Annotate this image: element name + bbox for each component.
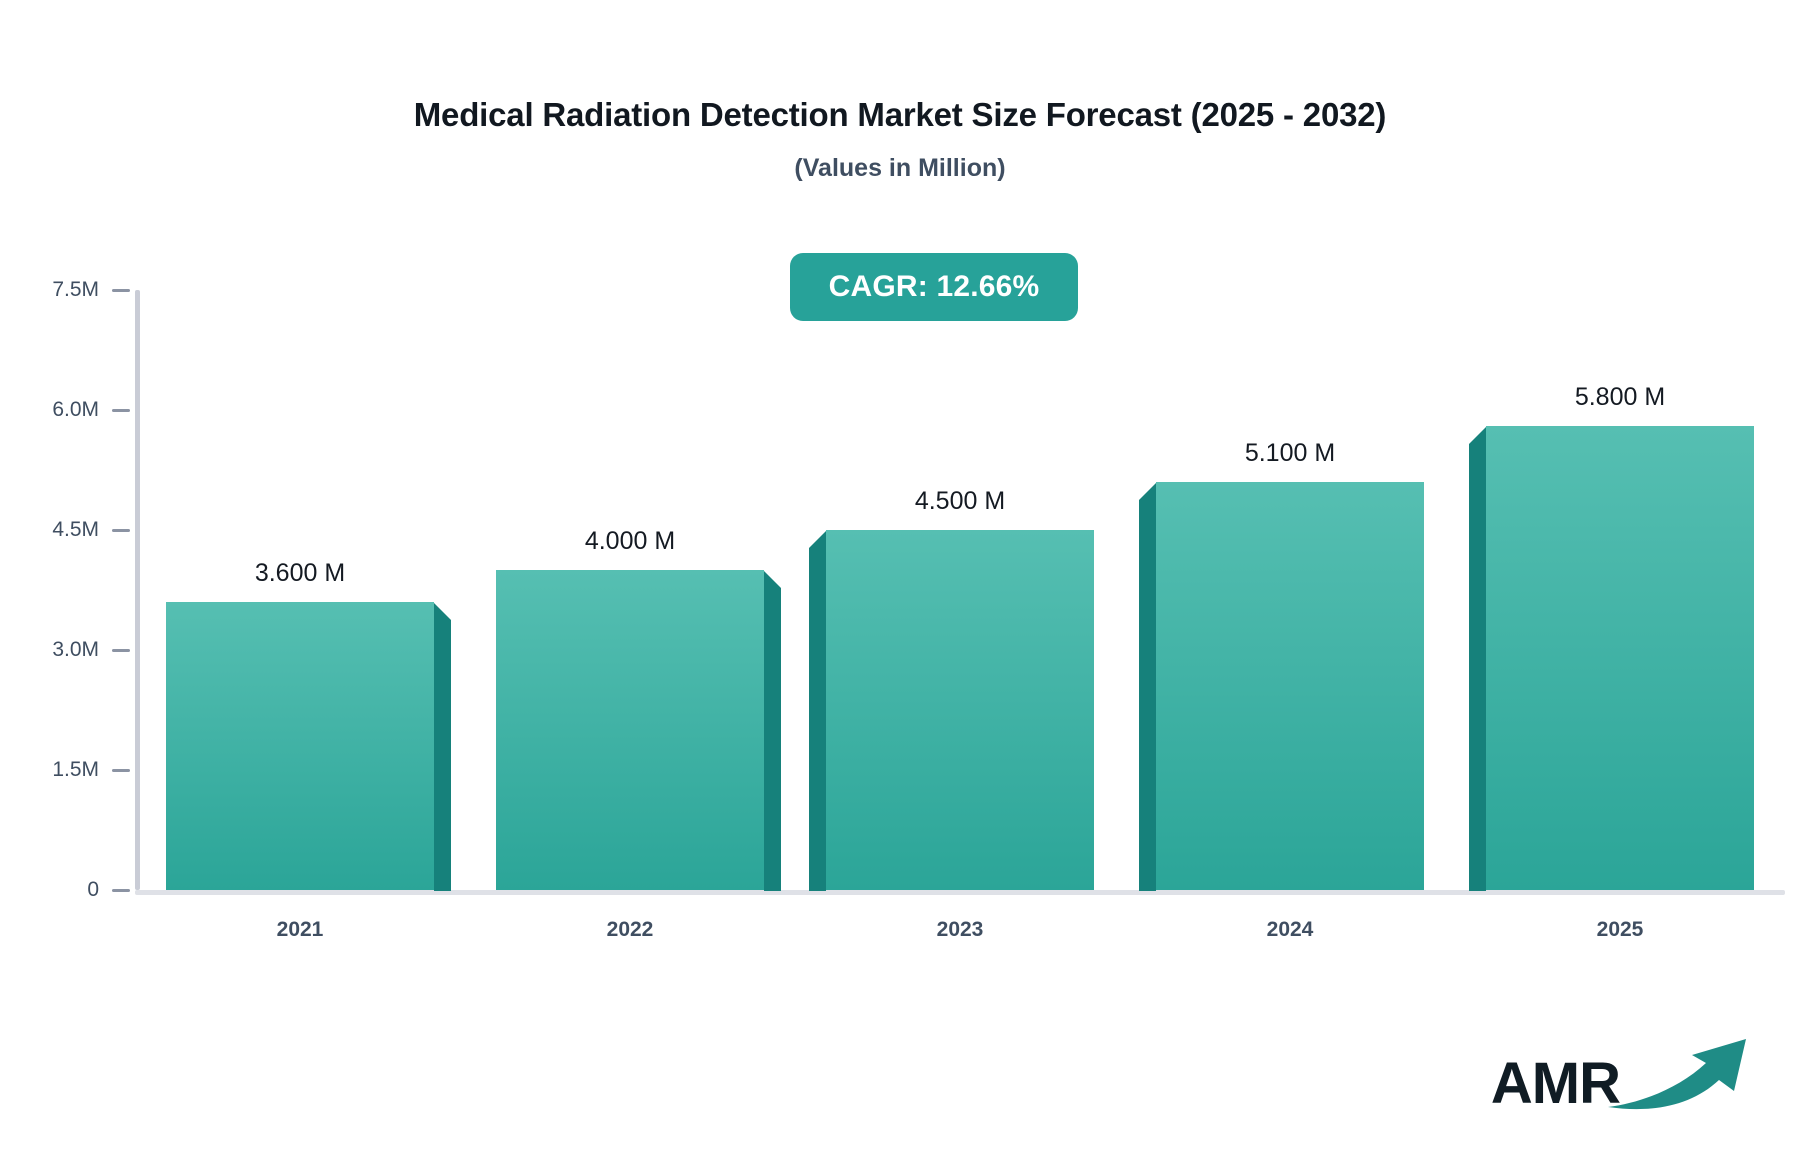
y-axis-tick: 3.0M bbox=[0, 636, 130, 664]
bar-value-label: 4.000 M bbox=[496, 527, 764, 556]
plot-area: 01.5M3.0M4.5M6.0M7.5M 3.600 M20214.000 M… bbox=[135, 290, 1785, 890]
y-axis-tick: 0 bbox=[0, 876, 130, 904]
page-title: Medical Radiation Detection Market Size … bbox=[0, 95, 1800, 135]
y-axis-tick-mark bbox=[112, 409, 130, 412]
bar-side-face bbox=[1139, 483, 1156, 891]
bar-side-face bbox=[434, 603, 451, 891]
growth-arrow-icon bbox=[1606, 1033, 1756, 1118]
y-axis-tick-label: 0 bbox=[87, 878, 99, 902]
amr-logo: AMR bbox=[1491, 1048, 1756, 1120]
y-axis-tick: 1.5M bbox=[0, 756, 130, 784]
y-axis-tick-label: 3.0M bbox=[52, 638, 99, 662]
bar-value-label: 3.600 M bbox=[166, 559, 434, 588]
chart-subtitle: (Values in Million) bbox=[0, 153, 1800, 183]
bar-group[interactable]: 4.500 M2023 bbox=[826, 290, 1094, 890]
bar-2024[interactable] bbox=[1156, 482, 1424, 890]
bar-side-face bbox=[764, 571, 781, 891]
bar-value-label: 4.500 M bbox=[826, 487, 1094, 516]
bar-group[interactable]: 5.800 M2025 bbox=[1486, 290, 1754, 890]
bars-layer: 3.600 M20214.000 M20224.500 M20235.100 M… bbox=[135, 290, 1785, 890]
bar-side-face bbox=[1469, 427, 1486, 891]
bar-group[interactable]: 4.000 M2022 bbox=[496, 290, 764, 890]
x-axis-tick-label: 2022 bbox=[496, 918, 764, 942]
bar-2023[interactable] bbox=[826, 530, 1094, 890]
y-axis-tick-label: 4.5M bbox=[52, 518, 99, 542]
bar-value-label: 5.100 M bbox=[1156, 439, 1424, 468]
x-axis-tick-label: 2021 bbox=[166, 918, 434, 942]
y-axis-tick-mark bbox=[112, 529, 130, 532]
y-axis-tick-label: 6.0M bbox=[52, 398, 99, 422]
x-axis-tick-label: 2025 bbox=[1486, 918, 1754, 942]
x-axis-tick-label: 2024 bbox=[1156, 918, 1424, 942]
title-block: Medical Radiation Detection Market Size … bbox=[0, 95, 1800, 183]
x-axis-tick-label: 2023 bbox=[826, 918, 1094, 942]
bar-2022[interactable] bbox=[496, 570, 764, 890]
y-axis-tick-mark bbox=[112, 769, 130, 772]
bar-2021[interactable] bbox=[166, 602, 434, 890]
y-axis-tick: 4.5M bbox=[0, 516, 130, 544]
y-axis-tick-mark bbox=[112, 889, 130, 892]
bar-group[interactable]: 5.100 M2024 bbox=[1156, 290, 1424, 890]
bar-value-label: 5.800 M bbox=[1486, 383, 1754, 412]
x-axis-baseline bbox=[135, 890, 1785, 895]
y-axis-tick-mark bbox=[112, 289, 130, 292]
y-axis-tick-mark bbox=[112, 649, 130, 652]
bar-group[interactable]: 3.600 M2021 bbox=[166, 290, 434, 890]
y-axis-tick-label: 1.5M bbox=[52, 758, 99, 782]
y-axis-tick: 6.0M bbox=[0, 396, 130, 424]
y-axis-tick-label: 7.5M bbox=[52, 278, 99, 302]
amr-logo-text: AMR bbox=[1491, 1055, 1620, 1113]
y-axis-tick: 7.5M bbox=[0, 276, 130, 304]
bar-side-face bbox=[809, 531, 826, 891]
bar-2025[interactable] bbox=[1486, 426, 1754, 890]
chart-card: Medical Radiation Detection Market Size … bbox=[0, 0, 1800, 1156]
